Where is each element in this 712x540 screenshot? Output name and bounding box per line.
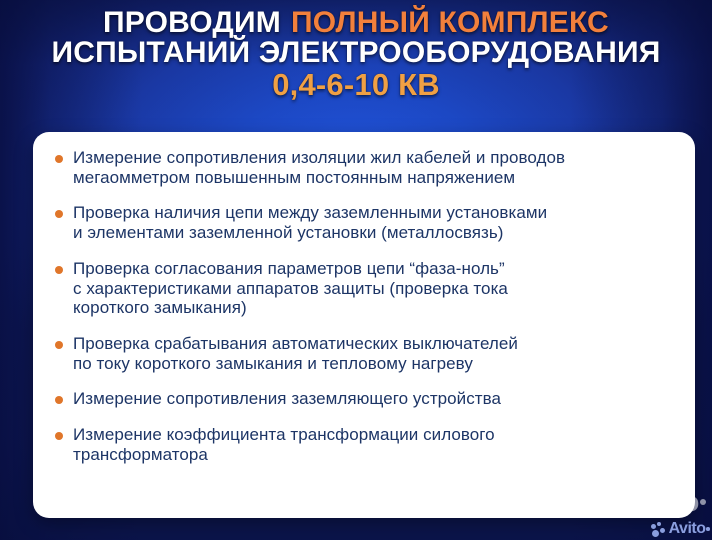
headline-line-2: ИСПЫТАНИЙ ЭЛЕКТРООБОРУДОВАНИЯ	[0, 38, 712, 67]
avito-dot-icon	[700, 499, 706, 505]
bullet-dot-icon	[55, 266, 63, 274]
service-text-breaker-trip-test: Проверка срабатывания автоматических вык…	[73, 334, 677, 373]
avito-logo-icon	[651, 522, 666, 537]
service-text-transformer-ratio: Измерение коэффициента трансформации сил…	[73, 425, 677, 464]
list-item: Измерение сопротивления изоляции жил каб…	[43, 148, 677, 187]
service-line: по току короткого замыкания и тепловому …	[73, 354, 677, 374]
service-text-insulation-resistance: Измерение сопротивления изоляции жил каб…	[73, 148, 677, 187]
headline-block: ПРОВОДИМПОЛНЫЙ КОМПЛЕКС ИСПЫТАНИЙ ЭЛЕКТР…	[0, 8, 712, 100]
list-item: Проверка наличия цепи между заземленными…	[43, 203, 677, 242]
list-item: Измерение коэффициента трансформации сил…	[43, 425, 677, 464]
service-line: короткого замыкания)	[73, 298, 677, 318]
bullet-dot-icon	[55, 432, 63, 440]
service-line: трансформатора	[73, 445, 677, 465]
service-text-earthing-device-resistance: Измерение сопротивления заземляющего уст…	[73, 389, 677, 409]
service-line: и элементами заземленной установки (мета…	[73, 223, 677, 243]
service-line: Измерение сопротивления изоляции жил каб…	[73, 148, 677, 168]
avito-dot-icon	[706, 527, 710, 531]
avito-watermark-small-text: Avito	[669, 520, 706, 538]
headline-line-1: ПРОВОДИМПОЛНЫЙ КОМПЛЕКС	[0, 8, 712, 37]
service-line: с характеристиками аппаратов защиты (про…	[73, 279, 677, 299]
service-line: Проверка срабатывания автоматических вык…	[73, 334, 677, 354]
service-line: Измерение коэффициента трансформации сил…	[73, 425, 677, 445]
service-text-phase-zero-loop: Проверка согласования параметров цепи “ф…	[73, 259, 677, 318]
service-line: Проверка согласования параметров цепи “ф…	[73, 259, 677, 279]
headline-line-1-white: ПРОВОДИМ	[103, 6, 281, 39]
avito-watermark-small: Avito	[651, 520, 710, 538]
services-list: Измерение сопротивления изоляции жил каб…	[43, 148, 677, 465]
headline-line-3-voltage: 0,4-6-10 кВ	[0, 70, 712, 100]
service-line: мегаомметром повышенным постоянным напря…	[73, 168, 677, 188]
service-text-grounding-continuity: Проверка наличия цепи между заземленными…	[73, 203, 677, 242]
service-line: Измерение сопротивления заземляющего уст…	[73, 389, 677, 409]
poster-root: ПРОВОДИМПОЛНЫЙ КОМПЛЕКС ИСПЫТАНИЙ ЭЛЕКТР…	[0, 0, 712, 540]
service-line: Проверка наличия цепи между заземленными…	[73, 203, 677, 223]
list-item: Проверка срабатывания автоматических вык…	[43, 334, 677, 373]
list-item: Измерение сопротивления заземляющего уст…	[43, 389, 677, 409]
bullet-dot-icon	[55, 155, 63, 163]
services-card: Измерение сопротивления изоляции жил каб…	[33, 132, 695, 518]
bullet-dot-icon	[55, 396, 63, 404]
bullet-dot-icon	[55, 341, 63, 349]
list-item: Проверка согласования параметров цепи “ф…	[43, 259, 677, 318]
headline-line-1-orange: ПОЛНЫЙ КОМПЛЕКС	[291, 6, 609, 39]
bullet-dot-icon	[55, 210, 63, 218]
